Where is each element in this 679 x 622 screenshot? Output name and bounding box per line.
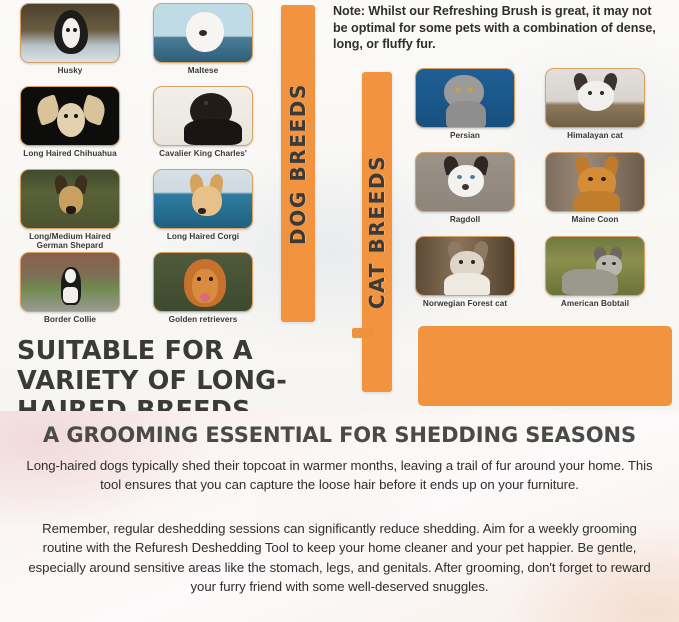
breed-photo-golden-retriever — [153, 252, 253, 312]
breed-label: Cavalier King Charles' — [153, 149, 253, 159]
orange-accent-chip — [352, 328, 374, 338]
breed-card-ragdoll: Ragdoll — [415, 152, 515, 225]
section-title: A GROOMING ESSENTIAL FOR SHEDDING SEASON… — [0, 423, 679, 447]
breed-card-cavalier: Cavalier King Charles' — [153, 86, 253, 159]
breed-card-himalayan: Himalayan cat — [545, 68, 645, 141]
breed-label: Long/Medium Haired German Shepard — [20, 232, 120, 250]
breed-photo-persian — [415, 68, 515, 128]
breed-photo-husky — [20, 3, 120, 63]
breed-label: Ragdoll — [415, 215, 515, 225]
breed-photo-german-shepard — [20, 169, 120, 229]
breed-photo-maltese — [153, 3, 253, 63]
breed-card-chihuahua: Long Haired Chihuahua — [20, 86, 120, 159]
breed-label: Long Haired Corgi — [153, 232, 253, 242]
dog-breeds-banner-label: DOG BREEDS — [286, 83, 310, 245]
breed-label: Golden retrievers — [153, 315, 253, 325]
breed-label: Persian — [415, 131, 515, 141]
breed-label: American Bobtail — [545, 299, 645, 309]
infographic-page: Husky Maltese Long — [0, 0, 679, 622]
breed-card-persian: Persian — [415, 68, 515, 141]
breed-label: Norwegian Forest cat — [415, 299, 515, 309]
breed-card-maltese: Maltese — [153, 3, 253, 76]
grooming-essential-section: A GROOMING ESSENTIAL FOR SHEDDING SEASON… — [0, 411, 679, 622]
breed-photo-chihuahua — [20, 86, 120, 146]
breed-card-border-collie: Border Collie — [20, 252, 120, 325]
breed-card-american-bobtail: American Bobtail — [545, 236, 645, 309]
breed-photo-cavalier — [153, 86, 253, 146]
breed-label: Himalayan cat — [545, 131, 645, 141]
breed-card-golden-retriever: Golden retrievers — [153, 252, 253, 325]
dog-breeds-banner: DOG BREEDS — [281, 5, 315, 322]
breed-card-german-shepard: Long/Medium Haired German Shepard — [20, 169, 120, 250]
breed-card-corgi: Long Haired Corgi — [153, 169, 253, 242]
breed-label: Long Haired Chihuahua — [20, 149, 120, 159]
breed-photo-border-collie — [20, 252, 120, 312]
breed-photo-norwegian-forest — [415, 236, 515, 296]
breed-photo-corgi — [153, 169, 253, 229]
body-paragraph-1: Long-haired dogs typically shed their to… — [25, 456, 654, 495]
breed-label: Maltese — [153, 66, 253, 76]
orange-feature-block — [418, 326, 672, 406]
dog-breeds-grid: Husky Maltese Long — [0, 0, 280, 330]
breed-photo-ragdoll — [415, 152, 515, 212]
body-paragraph-2: Remember, regular deshedding sessions ca… — [22, 519, 657, 597]
breed-label: Maine Coon — [545, 215, 645, 225]
breed-photo-american-bobtail — [545, 236, 645, 296]
breed-label: Border Collie — [20, 315, 120, 325]
breed-card-husky: Husky — [20, 3, 120, 76]
breed-card-maine-coon: Maine Coon — [545, 152, 645, 225]
breeds-section: Husky Maltese Long — [0, 0, 679, 411]
cat-breeds-banner-label: CAT BREEDS — [365, 155, 389, 309]
cat-breeds-grid: Persian Himalayan cat — [400, 0, 679, 330]
breed-label: Husky — [20, 66, 120, 76]
breed-photo-himalayan — [545, 68, 645, 128]
breed-card-norwegian-forest: Norwegian Forest cat — [415, 236, 515, 309]
breed-photo-maine-coon — [545, 152, 645, 212]
